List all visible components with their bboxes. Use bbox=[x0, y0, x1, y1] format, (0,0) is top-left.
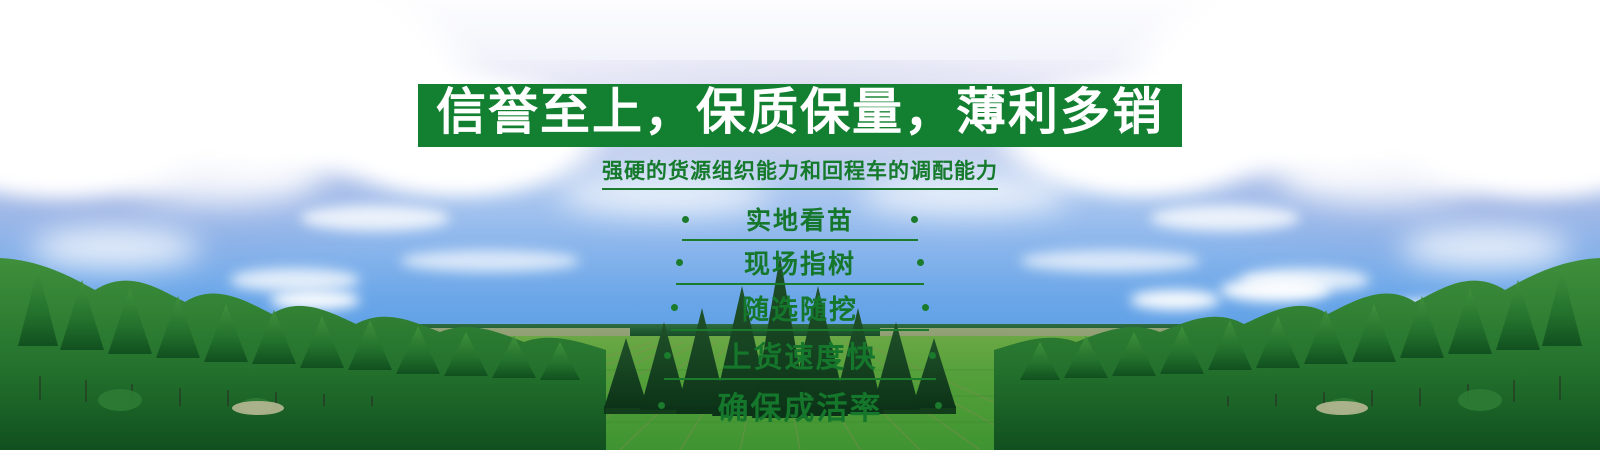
bullet-dot-icon bbox=[676, 259, 683, 266]
feature-row: 实地看苗 bbox=[682, 201, 918, 241]
headline-text: 信誉至上，保质保量，薄利多销 bbox=[436, 86, 1164, 139]
feature-row: 上货速度快 bbox=[664, 334, 936, 380]
feature-label: 确保成活率 bbox=[681, 383, 919, 428]
hero-banner: 信誉至上，保质保量，薄利多销 强硬的货源组织能力和回程车的调配能力 实地看苗 现… bbox=[0, 0, 1600, 450]
bullet-dot-icon bbox=[671, 304, 678, 311]
feature-label: 实地看苗 bbox=[705, 201, 895, 237]
bullet-dot-icon bbox=[682, 216, 689, 223]
feature-row: 确保成活率 bbox=[658, 383, 942, 430]
subtitle-text: 强硬的货源组织能力和回程车的调配能力 bbox=[602, 155, 998, 190]
bullet-dot-icon bbox=[664, 352, 671, 359]
feature-row: 现场指树 bbox=[676, 244, 924, 285]
feature-list: 实地看苗 现场指树 随选随挖 上货速度快 确保成活率 bbox=[658, 201, 942, 433]
bullet-dot-icon bbox=[929, 352, 936, 359]
banner-content: 信誉至上，保质保量，薄利多销 强硬的货源组织能力和回程车的调配能力 实地看苗 现… bbox=[0, 0, 1600, 433]
bullet-dot-icon bbox=[658, 402, 665, 409]
feature-label: 上货速度快 bbox=[687, 334, 913, 376]
feature-label: 现场指树 bbox=[699, 244, 901, 281]
bullet-dot-icon bbox=[911, 216, 918, 223]
bullet-dot-icon bbox=[935, 402, 942, 409]
bullet-dot-icon bbox=[917, 259, 924, 266]
feature-label: 随选随挖 bbox=[694, 288, 906, 327]
headline-band: 信誉至上，保质保量，薄利多销 bbox=[418, 84, 1182, 147]
feature-row: 随选随挖 bbox=[671, 288, 929, 331]
bullet-dot-icon bbox=[922, 304, 929, 311]
